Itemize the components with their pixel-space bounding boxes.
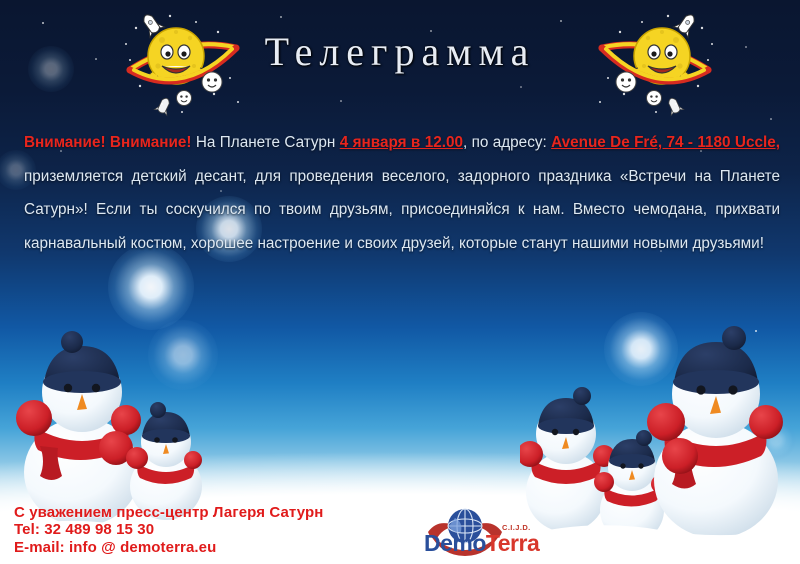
telegram-poster: Телеграмма: [0, 0, 800, 564]
announcement-paragraph: Внимание! Внимание! На Планете Сатурн 4 …: [24, 126, 780, 260]
announcement-rest: приземляется детский десант, для проведе…: [24, 168, 780, 252]
demoterra-logo: C.I.J.D. DemoTerra: [424, 502, 594, 558]
footer-phone: Tel: 32 489 98 15 30: [14, 521, 323, 539]
announcement-address-lead: , по адресу:: [463, 134, 551, 151]
attention-label: Внимание! Внимание!: [24, 134, 191, 151]
footer-signature: С уважением пресс-центр Лагеря Сатурн: [14, 504, 323, 522]
moon-glow-5: [604, 312, 678, 386]
saturn-mascot-right: [590, 8, 720, 120]
footer-email: E-mail: info @ demoterra.eu: [14, 539, 323, 557]
logo-terra-text: Terra: [486, 530, 539, 556]
announcement-text: Внимание! Внимание! На Планете Сатурн 4 …: [24, 126, 780, 260]
event-address: Avenue De Fré, 74 - 1180 Uccle,: [551, 134, 780, 151]
poster-header: Телеграмма: [0, 0, 800, 120]
event-datetime: 4 января в 12.00: [340, 134, 463, 151]
saturn-planet-mascot-icon: [590, 8, 720, 120]
announcement-lead: На Планете Сатурн: [191, 134, 339, 151]
logo-demo-text: Demo: [424, 530, 486, 556]
logo-wordmark: DemoTerra: [424, 530, 539, 557]
footer-contact: С уважением пресс-центр Лагеря Сатурн Te…: [14, 504, 323, 557]
moon-glow-6: [148, 320, 218, 390]
